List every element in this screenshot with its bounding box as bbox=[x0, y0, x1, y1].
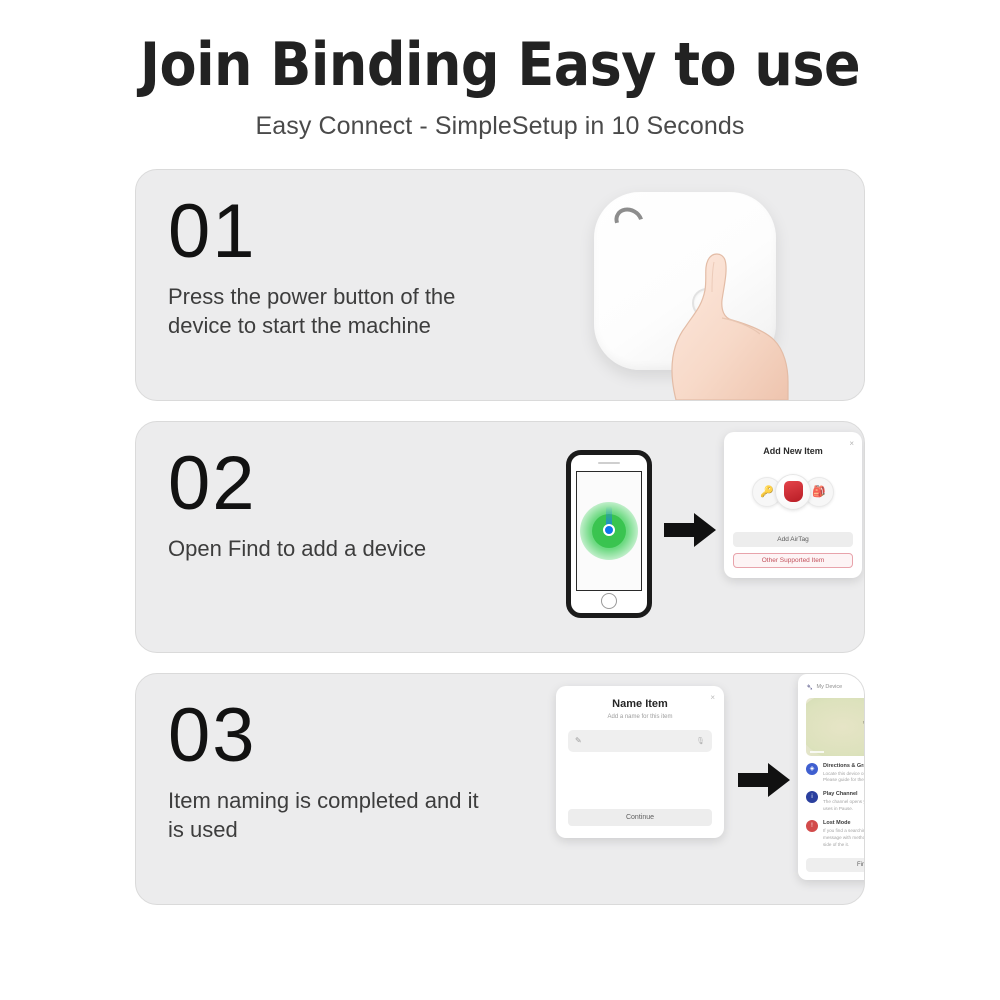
feature-row: ◈ Directions & Graph Locate this device … bbox=[806, 763, 865, 785]
header: Join Binding Easy to use Easy Connect - … bbox=[0, 0, 1000, 141]
page-title: Join Binding Easy to use bbox=[0, 34, 1000, 98]
add-item-title: Add New Item bbox=[733, 446, 853, 456]
item-name-input[interactable]: ✎ 🎙 bbox=[568, 730, 712, 752]
feature-title: Lost Mode bbox=[823, 820, 865, 826]
finish-button[interactable]: Finish bbox=[806, 858, 865, 872]
tracker-illustration bbox=[556, 170, 864, 400]
step-number: 03 bbox=[168, 700, 556, 772]
arrow-right-icon bbox=[738, 760, 790, 800]
alert-icon: ! bbox=[806, 820, 818, 832]
keyring-hole-icon bbox=[610, 202, 649, 240]
continue-button[interactable]: Continue bbox=[568, 809, 712, 826]
other-supported-item-button[interactable]: Other Supported Item bbox=[733, 553, 853, 568]
add-item-screen: × Add New Item 🔑 🎒 Add AirTag Other Supp… bbox=[724, 432, 862, 578]
close-icon[interactable]: × bbox=[849, 439, 854, 448]
step-description: Open Find to add a device bbox=[168, 534, 498, 564]
step-02-text: 02 Open Find to add a device bbox=[136, 422, 556, 652]
step-card-02: 02 Open Find to add a device bbox=[135, 421, 865, 653]
arrow-right-icon bbox=[664, 510, 716, 550]
infographic-page: Join Binding Easy to use Easy Connect - … bbox=[0, 0, 1000, 1000]
feature-body: Locate this device on a map when you fin… bbox=[823, 771, 865, 785]
feature-title: Play Channel bbox=[823, 791, 865, 797]
step-number: 01 bbox=[168, 196, 556, 268]
item-thumbnails: 🔑 🎒 bbox=[733, 474, 853, 510]
step-02-art: × Add New Item 🔑 🎒 Add AirTag Other Supp… bbox=[556, 422, 864, 652]
map-view[interactable]: Map Area bbox=[806, 698, 865, 756]
feature-body: The channel opens your devices connect t… bbox=[823, 799, 865, 813]
tag-thumb-center[interactable] bbox=[775, 474, 811, 510]
map-landmass bbox=[806, 698, 865, 756]
step-number: 02 bbox=[168, 448, 556, 520]
steps-list: 01 Press the power button of the device … bbox=[0, 169, 1000, 905]
step-03-art: × Name Item Add a name for this item ✎ 🎙… bbox=[556, 674, 864, 904]
detail-header: ➴ My Device bbox=[806, 682, 865, 693]
pencil-icon: ✎ bbox=[575, 736, 582, 745]
phone-mockup bbox=[566, 450, 652, 618]
pointing-hand-icon bbox=[642, 248, 792, 400]
feature-row: ! Lost Mode If you find a searching you … bbox=[806, 820, 865, 849]
device-detail-screen: ➴ My Device Map Area ◈ Directions & Grap… bbox=[798, 674, 865, 880]
feature-row: i Play Channel The channel opens your de… bbox=[806, 791, 865, 813]
feature-body: If you find a searching you lose a remot… bbox=[823, 828, 865, 849]
mic-icon[interactable]: 🎙 bbox=[696, 737, 705, 745]
radar-center-dot bbox=[603, 524, 615, 536]
map-label: Map Area bbox=[863, 720, 865, 725]
step-card-01: 01 Press the power button of the device … bbox=[135, 169, 865, 401]
step-01-text: 01 Press the power button of the device … bbox=[136, 170, 556, 400]
step-01-art bbox=[556, 170, 864, 400]
add-airtag-button[interactable]: Add AirTag bbox=[733, 532, 853, 547]
location-icon: ➴ bbox=[806, 682, 814, 693]
step-03-text: 03 Item naming is completed and it is us… bbox=[136, 674, 556, 904]
name-item-dialog: × Name Item Add a name for this item ✎ 🎙… bbox=[556, 686, 724, 838]
close-icon[interactable]: × bbox=[710, 693, 715, 702]
name-item-title: Name Item bbox=[568, 698, 712, 710]
feature-title: Directions & Graph bbox=[823, 763, 865, 769]
phone-screen bbox=[576, 471, 642, 591]
info-icon: i bbox=[806, 791, 818, 803]
step-card-03: 03 Item naming is completed and it is us… bbox=[135, 673, 865, 905]
name-item-subtitle: Add a name for this item bbox=[568, 714, 712, 720]
step-description: Press the power button of the device to … bbox=[168, 282, 498, 341]
red-tag-icon bbox=[784, 481, 803, 502]
find-radar-icon bbox=[580, 502, 638, 560]
detail-header-text: My Device bbox=[817, 684, 843, 690]
map-scale-bar bbox=[810, 751, 824, 753]
step-description: Item naming is completed and it is used bbox=[168, 786, 498, 845]
phone-home-button bbox=[601, 593, 617, 609]
compass-icon: ◈ bbox=[806, 763, 818, 775]
phone-speaker bbox=[598, 462, 620, 464]
page-subtitle: Easy Connect - SimpleSetup in 10 Seconds bbox=[0, 112, 1000, 141]
